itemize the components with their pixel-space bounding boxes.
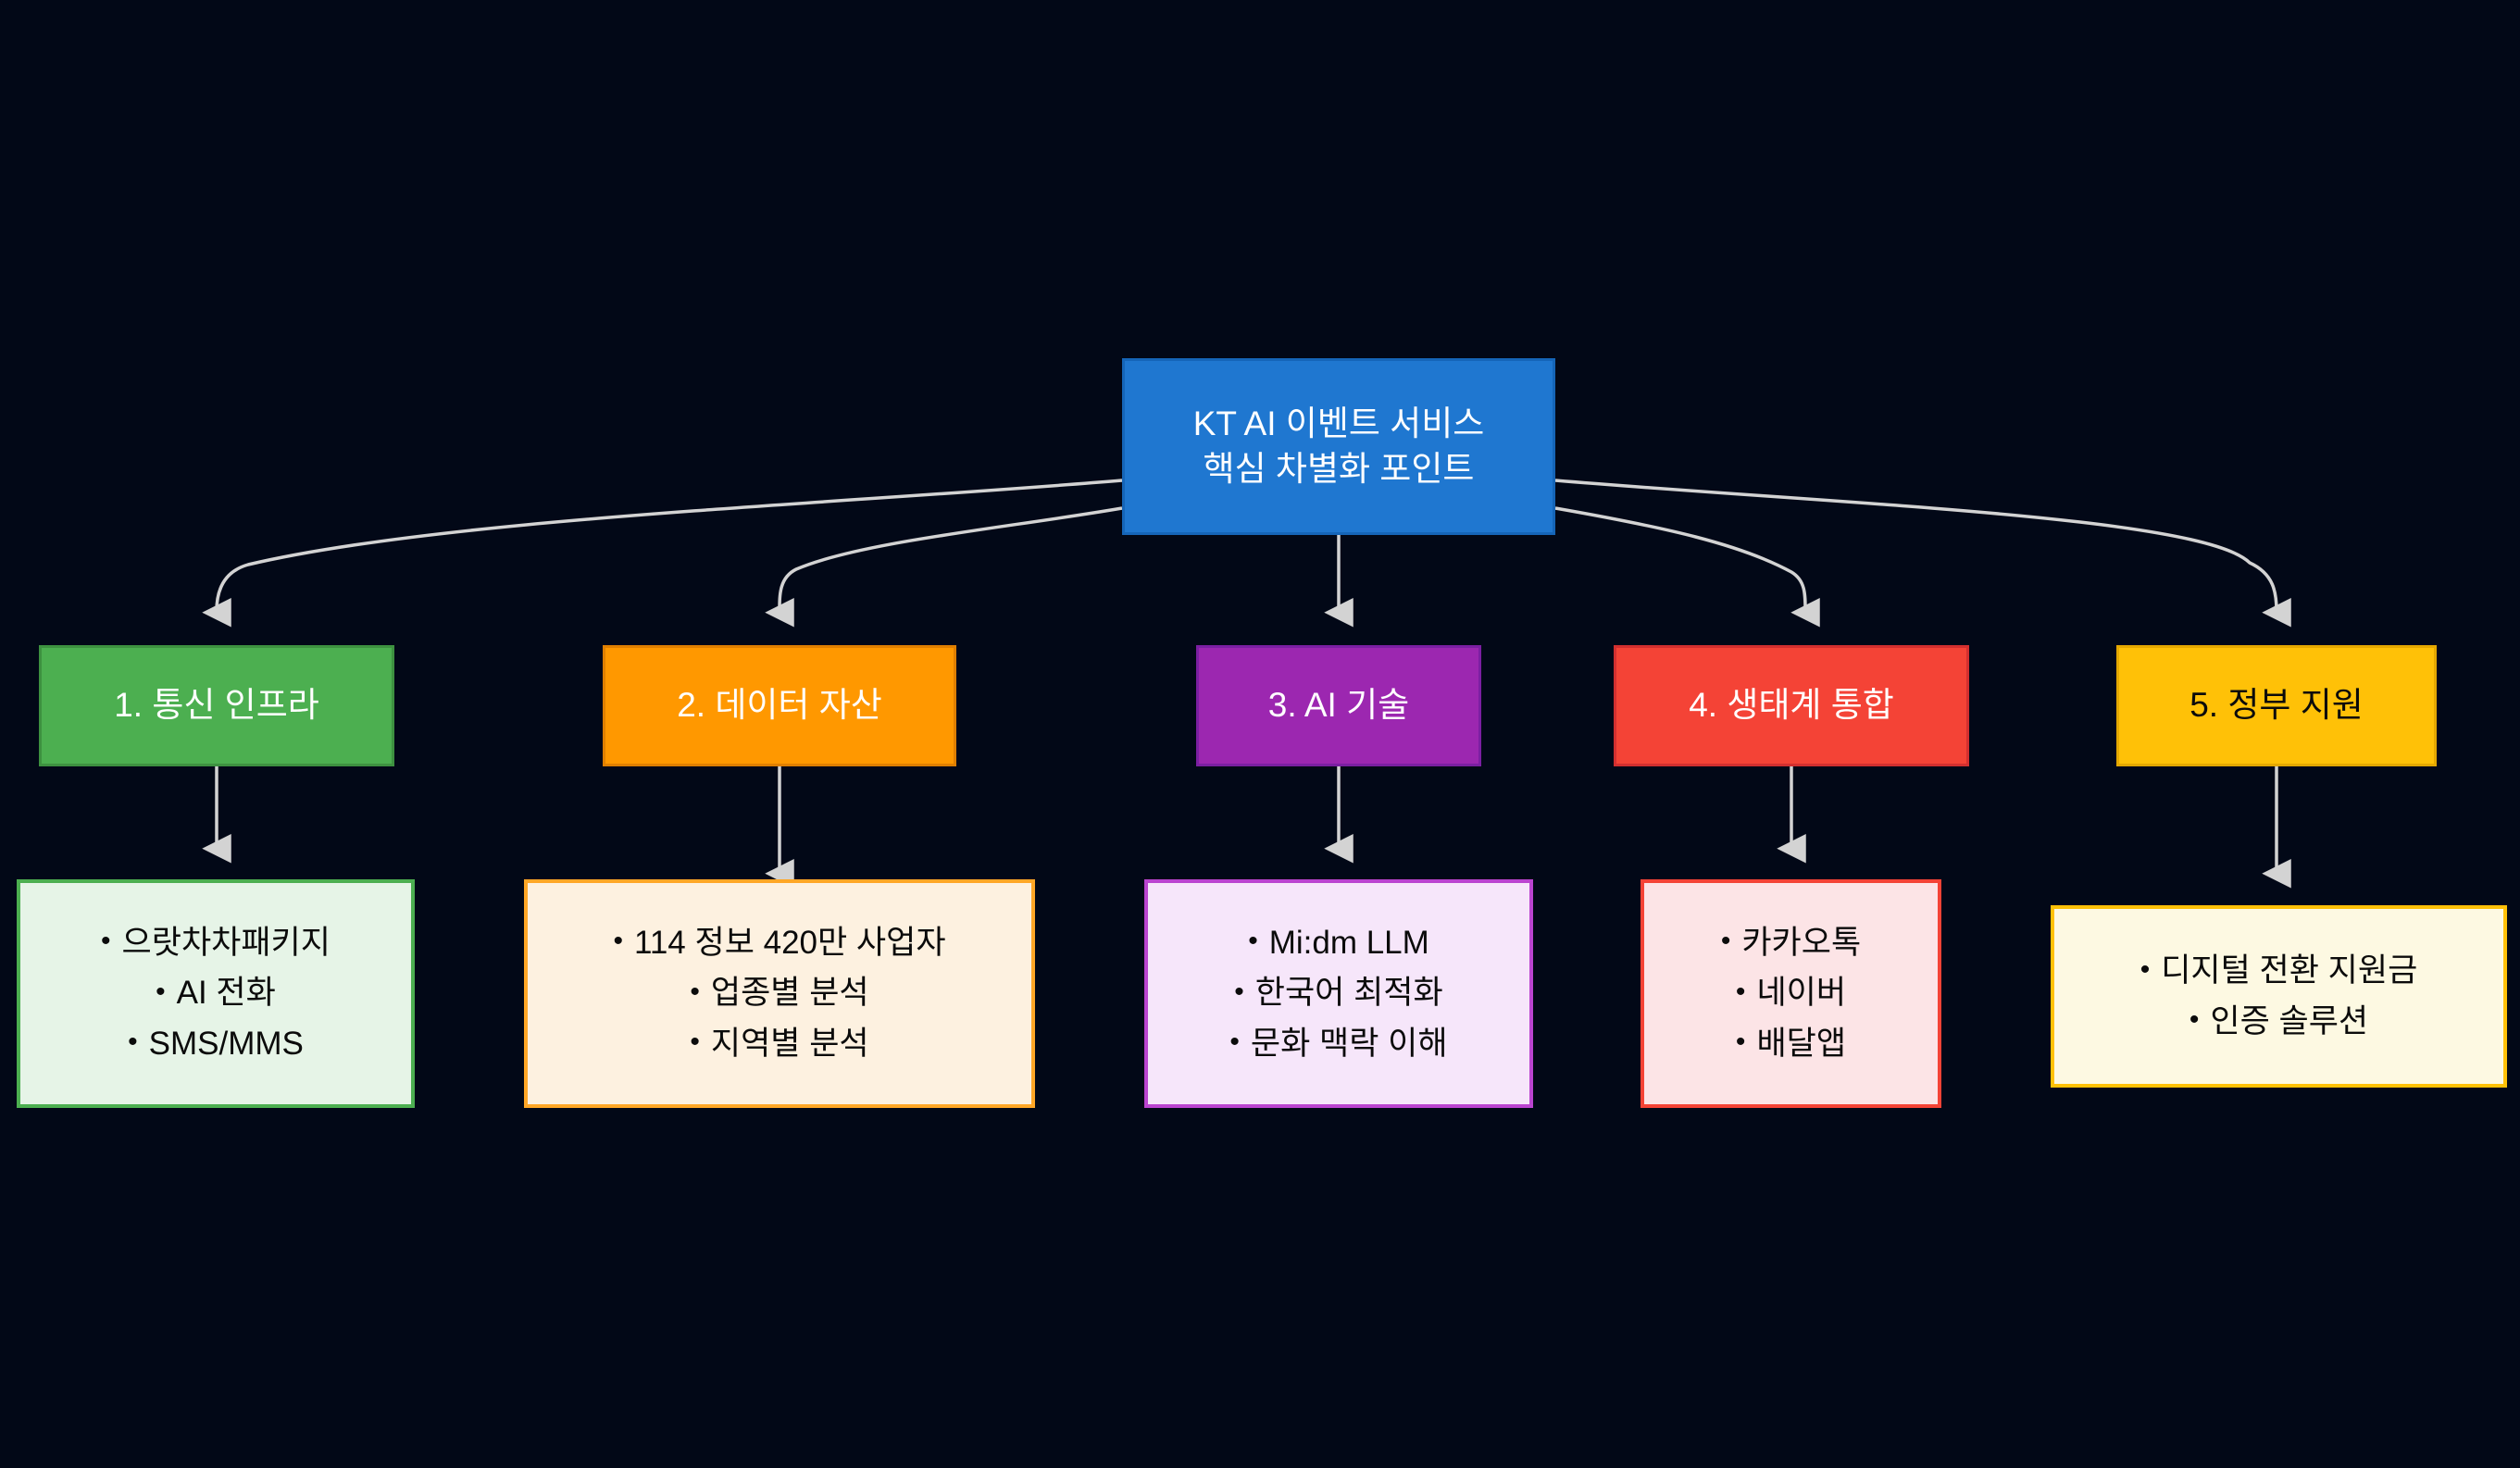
list-item-label: 배달앱 [1756,1026,1846,1062]
node-branch-1[interactable]: 1. 통신 인프라 [39,645,394,766]
list-item: •AI 전화 [101,968,331,1018]
list-item: •문화 맥락 이해 [1229,1019,1447,1069]
detail-list-1: •으랏차차패키지 •AI 전화 •SMS/MMS [101,918,331,1069]
bullet-icon: • [690,1028,700,1056]
list-item-label: SMS/MMS [149,1026,304,1062]
bullet-icon: • [1229,1028,1240,1056]
bullet-icon: • [1721,927,1731,955]
edge-root-to-branch-1 [217,480,1122,611]
bullet-icon: • [690,978,700,1006]
list-item: •한국어 최적화 [1229,968,1447,1018]
list-item: •으랏차차패키지 [101,918,331,968]
node-detail-4[interactable]: •카카오톡 •네이버 •배달앱 [1640,879,1941,1108]
bullet-icon: • [2189,1006,2200,1034]
bullet-icon: • [613,927,623,955]
list-item-label: 으랏차차패키지 [122,925,331,961]
list-item-label: 문화 맥락 이해 [1251,1026,1448,1062]
node-detail-2[interactable]: •114 정보 420만 사업자 •업종별 분석 •지역별 분석 [524,879,1035,1108]
bullet-icon: • [2140,956,2151,984]
bullet-icon: • [1248,927,1258,955]
node-root[interactable]: KT AI 이벤트 서비스 핵심 차별화 포인트 [1122,358,1555,535]
list-item-label: AI 전화 [177,975,276,1011]
list-item: •Mi:dm LLM [1229,918,1447,968]
list-item: •업종별 분석 [613,968,945,1018]
node-detail-5[interactable]: •디지털 전환 지원금 •인증 솔루션 [2051,905,2507,1088]
list-item: •지역별 분석 [613,1019,945,1069]
list-item: •네이버 [1721,968,1861,1018]
bullet-icon: • [156,978,166,1006]
list-item-label: 지역별 분석 [711,1026,869,1062]
node-detail-1[interactable]: •으랏차차패키지 •AI 전화 •SMS/MMS [17,879,415,1108]
edge-root-to-branch-2 [780,508,1122,611]
node-branch-3[interactable]: 3. AI 기술 [1196,645,1481,766]
list-item-label: 카카오톡 [1741,925,1861,961]
bullet-icon: • [1736,1028,1746,1056]
list-item-label: 업종별 분석 [711,975,869,1011]
node-branch-4[interactable]: 4. 생태계 통합 [1614,645,1969,766]
list-item: •디지털 전환 지원금 [2140,946,2418,996]
node-branch-2[interactable]: 2. 데이터 자산 [603,645,956,766]
list-item-label: 디지털 전환 지원금 [2161,952,2417,989]
list-item-label: 네이버 [1756,975,1846,1011]
detail-list-4: •카카오톡 •네이버 •배달앱 [1721,918,1861,1069]
list-item-label: 114 정보 420만 사업자 [634,925,946,961]
bullet-icon: • [128,1028,138,1056]
diagram-canvas: KT AI 이벤트 서비스 핵심 차별화 포인트 1. 통신 인프라 •으랏차차… [0,0,2520,1468]
edge-root-to-branch-5 [1555,480,2277,611]
list-item: •SMS/MMS [101,1019,331,1069]
detail-list-2: •114 정보 420만 사업자 •업종별 분석 •지역별 분석 [613,918,945,1069]
detail-list-5: •디지털 전환 지원금 •인증 솔루션 [2140,946,2418,1047]
node-branch-5[interactable]: 5. 정부 지원 [2116,645,2437,766]
bullet-icon: • [1736,978,1746,1006]
list-item: •114 정보 420만 사업자 [613,918,945,968]
list-item-label: 한국어 최적화 [1255,975,1443,1011]
list-item: •인증 솔루션 [2140,997,2418,1047]
list-item: •카카오톡 [1721,918,1861,968]
detail-list-3: •Mi:dm LLM •한국어 최적화 •문화 맥락 이해 [1229,918,1447,1069]
bullet-icon: • [1234,978,1244,1006]
node-detail-3[interactable]: •Mi:dm LLM •한국어 최적화 •문화 맥락 이해 [1144,879,1533,1108]
edge-root-to-branch-4 [1555,508,1805,611]
bullet-icon: • [101,927,111,955]
list-item-label: 인증 솔루션 [2210,1003,2368,1039]
list-item: •배달앱 [1721,1019,1861,1069]
list-item-label: Mi:dm LLM [1269,925,1429,961]
